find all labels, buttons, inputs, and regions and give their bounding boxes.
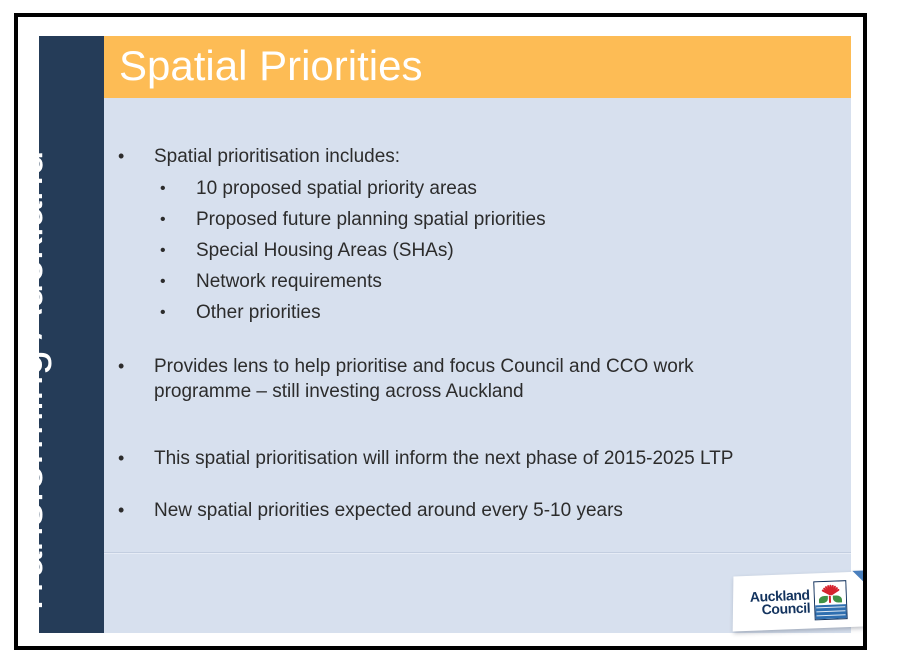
bullet-marker: • [118,354,154,379]
list-item: • Proposed future planning spatial prior… [160,207,820,232]
logo-line-2: Council [761,601,810,616]
crest-leaf-right [833,595,842,602]
bullet-marker: • [160,300,196,325]
content-panel: • Spatial prioritisation includes: • 10 … [104,98,851,633]
auckland-council-logo: Auckland Council [733,571,863,631]
list-item: • New spatial priorities expected around… [118,498,818,523]
sidebar-vertical-label: Transforming Auckland [39,150,49,619]
bullet-marker: • [160,207,196,232]
bullet-marker: • [160,238,196,263]
list-item-text: Other priorities [196,300,820,325]
list-item-text: Provides lens to help prioritise and foc… [154,354,818,404]
bullet-marker: • [160,176,196,201]
bullet-marker: • [118,446,154,471]
list-item-text: Network requirements [196,269,820,294]
list-item-text: New spatial priorities expected around e… [154,498,818,523]
footer-divider [104,552,851,554]
page-title: Spatial Priorities [119,45,422,87]
list-item: • Provides lens to help prioritise and f… [118,354,818,404]
crest-stem [829,596,831,603]
list-item: • 10 proposed spatial priority areas [160,176,820,201]
list-item-text: Proposed future planning spatial priorit… [196,207,820,232]
crest-flower-rays [819,583,841,595]
auckland-council-crest-icon [813,580,847,620]
logo-contents: Auckland Council [732,572,863,632]
sidebar-vertical-band: Transforming Auckland [39,36,104,633]
list-item: • Special Housing Areas (SHAs) [160,238,820,263]
bullet-marker: • [160,269,196,294]
list-item: • Spatial prioritisation includes: [118,144,818,169]
bullet-marker: • [118,144,154,169]
slide-frame: Transforming Auckland Spatial Priorities… [14,13,867,650]
slide-canvas: Transforming Auckland Spatial Priorities… [18,17,863,646]
list-item: • Network requirements [160,269,820,294]
crest-water [815,604,847,619]
title-bar: Spatial Priorities [104,36,851,98]
list-item: • Other priorities [160,300,820,325]
list-item: • This spatial prioritisation will infor… [118,446,818,471]
list-item-text: This spatial prioritisation will inform … [154,446,818,471]
list-item-text: Special Housing Areas (SHAs) [196,238,820,263]
list-item-text: Spatial prioritisation includes: [154,144,818,169]
list-item-text: 10 proposed spatial priority areas [196,176,820,201]
logo-wordmark: Auckland Council [750,588,811,616]
bullet-marker: • [118,498,154,523]
